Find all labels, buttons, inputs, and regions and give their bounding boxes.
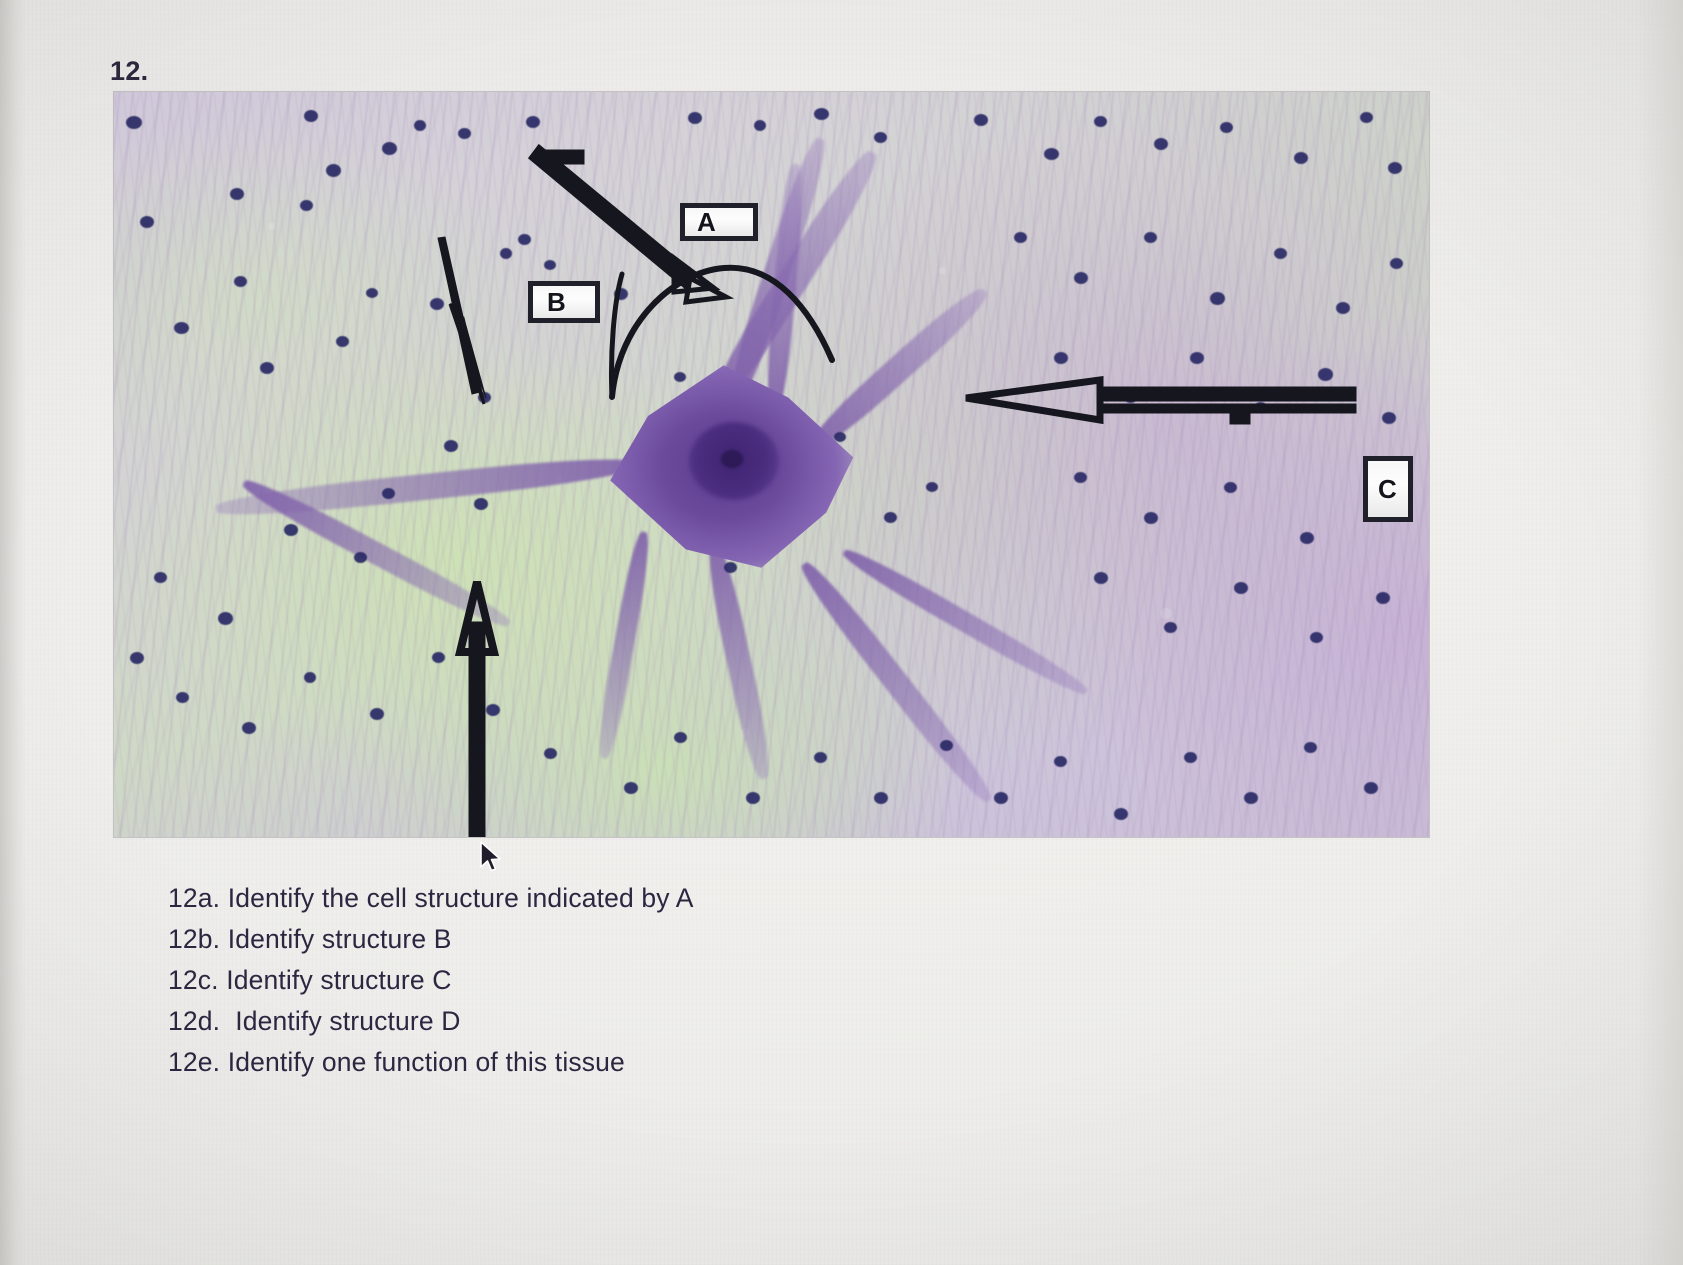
glial-nucleus <box>230 188 244 200</box>
glial-nucleus <box>544 260 556 270</box>
glial-nucleus <box>326 164 341 177</box>
glial-nucleus <box>366 288 378 298</box>
glial-nucleus <box>1388 162 1402 174</box>
glial-nucleus <box>974 114 988 126</box>
question-12d: 12d. Identify structure D <box>168 1003 1068 1040</box>
glial-nucleus <box>1390 258 1403 269</box>
label-box-b[interactable]: B <box>528 281 600 323</box>
glial-nucleus <box>154 572 167 583</box>
glial-nucleus <box>1094 572 1108 584</box>
label-box-a[interactable]: A <box>680 203 758 241</box>
glial-nucleus <box>370 708 384 720</box>
glial-nucleus <box>1164 622 1177 633</box>
glial-nucleus <box>1310 632 1323 643</box>
glial-nucleus <box>1304 742 1317 753</box>
glial-nucleus <box>1054 352 1068 364</box>
glial-nucleus <box>674 372 686 382</box>
glial-nucleus <box>284 524 298 536</box>
glial-nucleus <box>382 488 395 499</box>
glial-nucleus <box>1364 782 1378 794</box>
glial-nucleus <box>994 792 1008 804</box>
glial-nucleus <box>1114 808 1128 820</box>
glial-nucleus <box>130 652 144 664</box>
glial-nucleus <box>884 512 897 523</box>
glial-nucleus <box>688 112 702 124</box>
glial-nucleus <box>1094 116 1107 127</box>
glial-nucleus <box>1220 122 1233 133</box>
glial-nucleus <box>1054 756 1067 767</box>
question-12a: 12a. Identify the cell structure indicat… <box>168 880 1068 917</box>
glial-nucleus <box>1382 412 1396 424</box>
glial-nucleus <box>382 142 397 155</box>
glial-nucleus <box>614 288 628 300</box>
glial-nucleus <box>176 692 189 703</box>
label-c-text: C <box>1378 476 1397 502</box>
glial-nucleus <box>834 432 846 442</box>
glial-nucleus <box>1144 512 1158 524</box>
glial-nucleus <box>874 792 888 804</box>
question-12c: 12c. Identify structure C <box>168 962 1068 999</box>
label-a-text: A <box>697 209 716 235</box>
question-12e: 12e. Identify one function of this tissu… <box>168 1044 1068 1081</box>
glial-nucleus <box>126 116 142 129</box>
glial-nucleus <box>1244 792 1258 804</box>
glial-nucleus <box>336 336 349 347</box>
glial-nucleus <box>754 120 766 131</box>
glial-nucleus <box>1144 232 1157 243</box>
glial-nucleus <box>1044 148 1059 160</box>
glial-nucleus <box>814 752 827 763</box>
question-list: 12a. Identify the cell structure indicat… <box>168 880 1068 1085</box>
glial-nucleus <box>1184 752 1197 763</box>
glial-nucleus <box>354 552 367 563</box>
glial-nucleus <box>242 722 256 734</box>
glial-nucleus <box>1318 368 1333 381</box>
glial-nucleus <box>874 132 887 143</box>
label-box-c[interactable]: C <box>1363 456 1413 522</box>
glial-nucleus <box>1124 392 1137 403</box>
page-right-edge-shadow <box>1637 0 1683 1265</box>
glial-nucleus <box>1274 248 1287 259</box>
glial-nucleus <box>1154 138 1168 150</box>
glial-nucleus <box>430 298 444 310</box>
worksheet-page: 12. <box>0 0 1683 1265</box>
glial-nucleus <box>1224 482 1237 493</box>
glial-nucleus <box>1074 272 1088 284</box>
glial-nucleus <box>474 498 488 510</box>
glial-nucleus <box>1074 472 1087 483</box>
question-number: 12. <box>110 56 148 87</box>
label-b-text: B <box>547 289 566 315</box>
glial-nucleus <box>260 362 274 374</box>
glial-nucleus <box>1300 532 1314 544</box>
glial-nucleus <box>140 216 154 228</box>
page-left-edge-shadow <box>0 0 26 1265</box>
glial-nucleus <box>544 748 557 759</box>
glial-nucleus <box>1234 582 1248 594</box>
glial-nucleus <box>414 120 426 131</box>
glial-nucleus <box>458 128 471 139</box>
glial-nucleus <box>478 392 491 403</box>
glial-nucleus <box>814 108 829 120</box>
glial-nucleus <box>724 562 737 573</box>
mouse-pointer-icon <box>478 840 504 874</box>
glial-nucleus <box>1360 112 1373 123</box>
glial-nucleus <box>518 234 531 245</box>
glial-nucleus <box>432 652 445 663</box>
glial-nucleus <box>174 322 189 334</box>
glial-nucleus <box>624 782 638 794</box>
glial-nucleus <box>500 248 512 259</box>
glial-nucleus <box>1376 592 1390 604</box>
glial-nucleus <box>486 704 500 716</box>
glial-nucleus <box>1336 302 1350 314</box>
glial-nucleus <box>926 482 938 492</box>
glial-nucleus <box>444 440 458 452</box>
glial-nucleus <box>234 276 247 287</box>
glial-nucleus <box>526 116 540 128</box>
glial-nucleus <box>218 612 233 625</box>
neuron-nucleolus <box>721 450 743 468</box>
glial-nucleus <box>1294 152 1308 164</box>
question-12b: 12b. Identify structure B <box>168 921 1068 958</box>
glial-nucleus <box>300 200 313 211</box>
glial-nucleus <box>304 672 316 683</box>
glial-nucleus <box>1254 402 1267 413</box>
glial-nucleus <box>1210 292 1225 305</box>
glial-nucleus <box>1014 232 1027 243</box>
micrograph-image: A B C D <box>114 92 1429 837</box>
glial-nucleus <box>674 732 687 743</box>
glial-nucleus <box>304 110 318 122</box>
glial-nucleus <box>746 792 760 804</box>
glial-nucleus <box>1190 352 1204 364</box>
glial-nucleus <box>940 740 953 751</box>
